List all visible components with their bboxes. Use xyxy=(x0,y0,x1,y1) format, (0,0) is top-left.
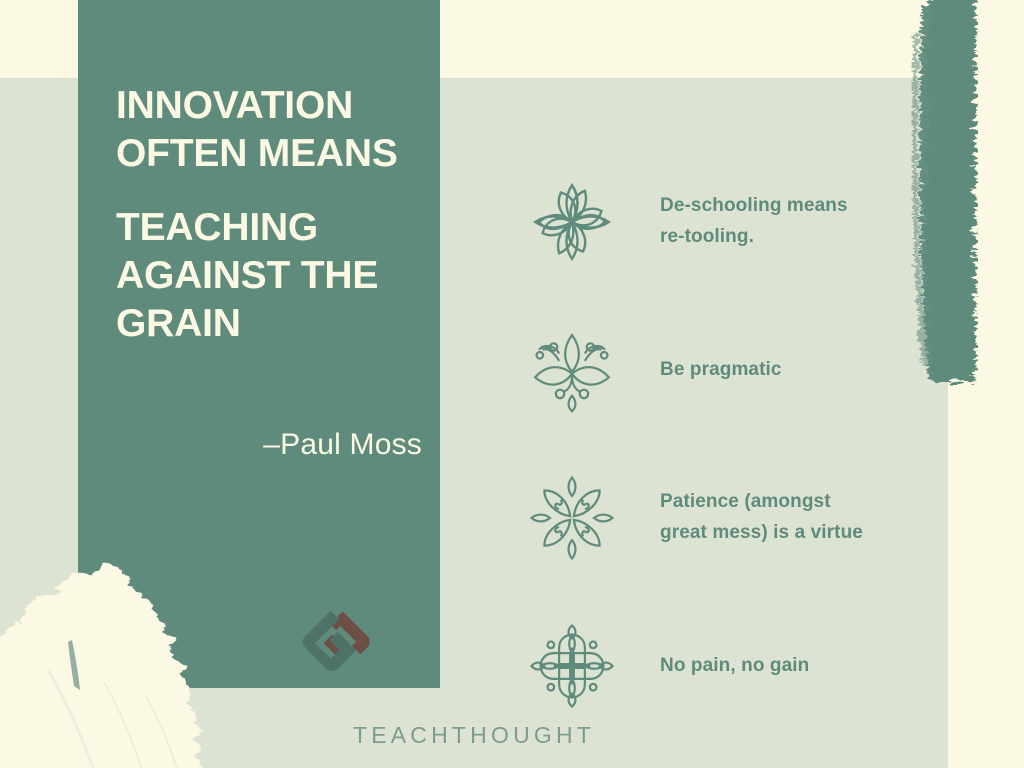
list-item: Be pragmatic xyxy=(520,296,940,444)
teachthought-wordmark: TEACHTHOUGHT xyxy=(0,722,948,749)
list-item-label: No pain, no gain xyxy=(660,651,876,682)
list-item-label: Be pragmatic xyxy=(660,355,876,386)
rosette-flower-icon xyxy=(520,170,624,274)
fleuron-sprig-icon xyxy=(520,318,624,422)
points-list: De-schooling means re-tooling. xyxy=(520,148,940,740)
list-item: No pain, no gain xyxy=(520,592,940,740)
list-item: De-schooling means re-tooling. xyxy=(520,148,940,296)
headline-line-2: TEACHING AGAINST THE GRAIN xyxy=(116,204,416,348)
list-item-label: Patience (amongst great mess) is a virtu… xyxy=(660,487,876,549)
teachthought-monogram-logo xyxy=(291,600,383,682)
quote-attribution: –Paul Moss xyxy=(116,428,422,462)
headline-line-1: INNOVATION OFTEN MEANS xyxy=(116,84,398,175)
list-item-label: De-schooling means re-tooling. xyxy=(660,191,876,253)
quatrefoil-leaf-icon xyxy=(520,466,624,570)
cross-floral-icon xyxy=(520,614,624,718)
list-item: Patience (amongst great mess) is a virtu… xyxy=(520,444,940,592)
page-title: INNOVATION OFTEN MEANS TEACHING AGAINST … xyxy=(116,82,416,348)
slide-canvas: INNOVATION OFTEN MEANS TEACHING AGAINST … xyxy=(0,0,1024,768)
